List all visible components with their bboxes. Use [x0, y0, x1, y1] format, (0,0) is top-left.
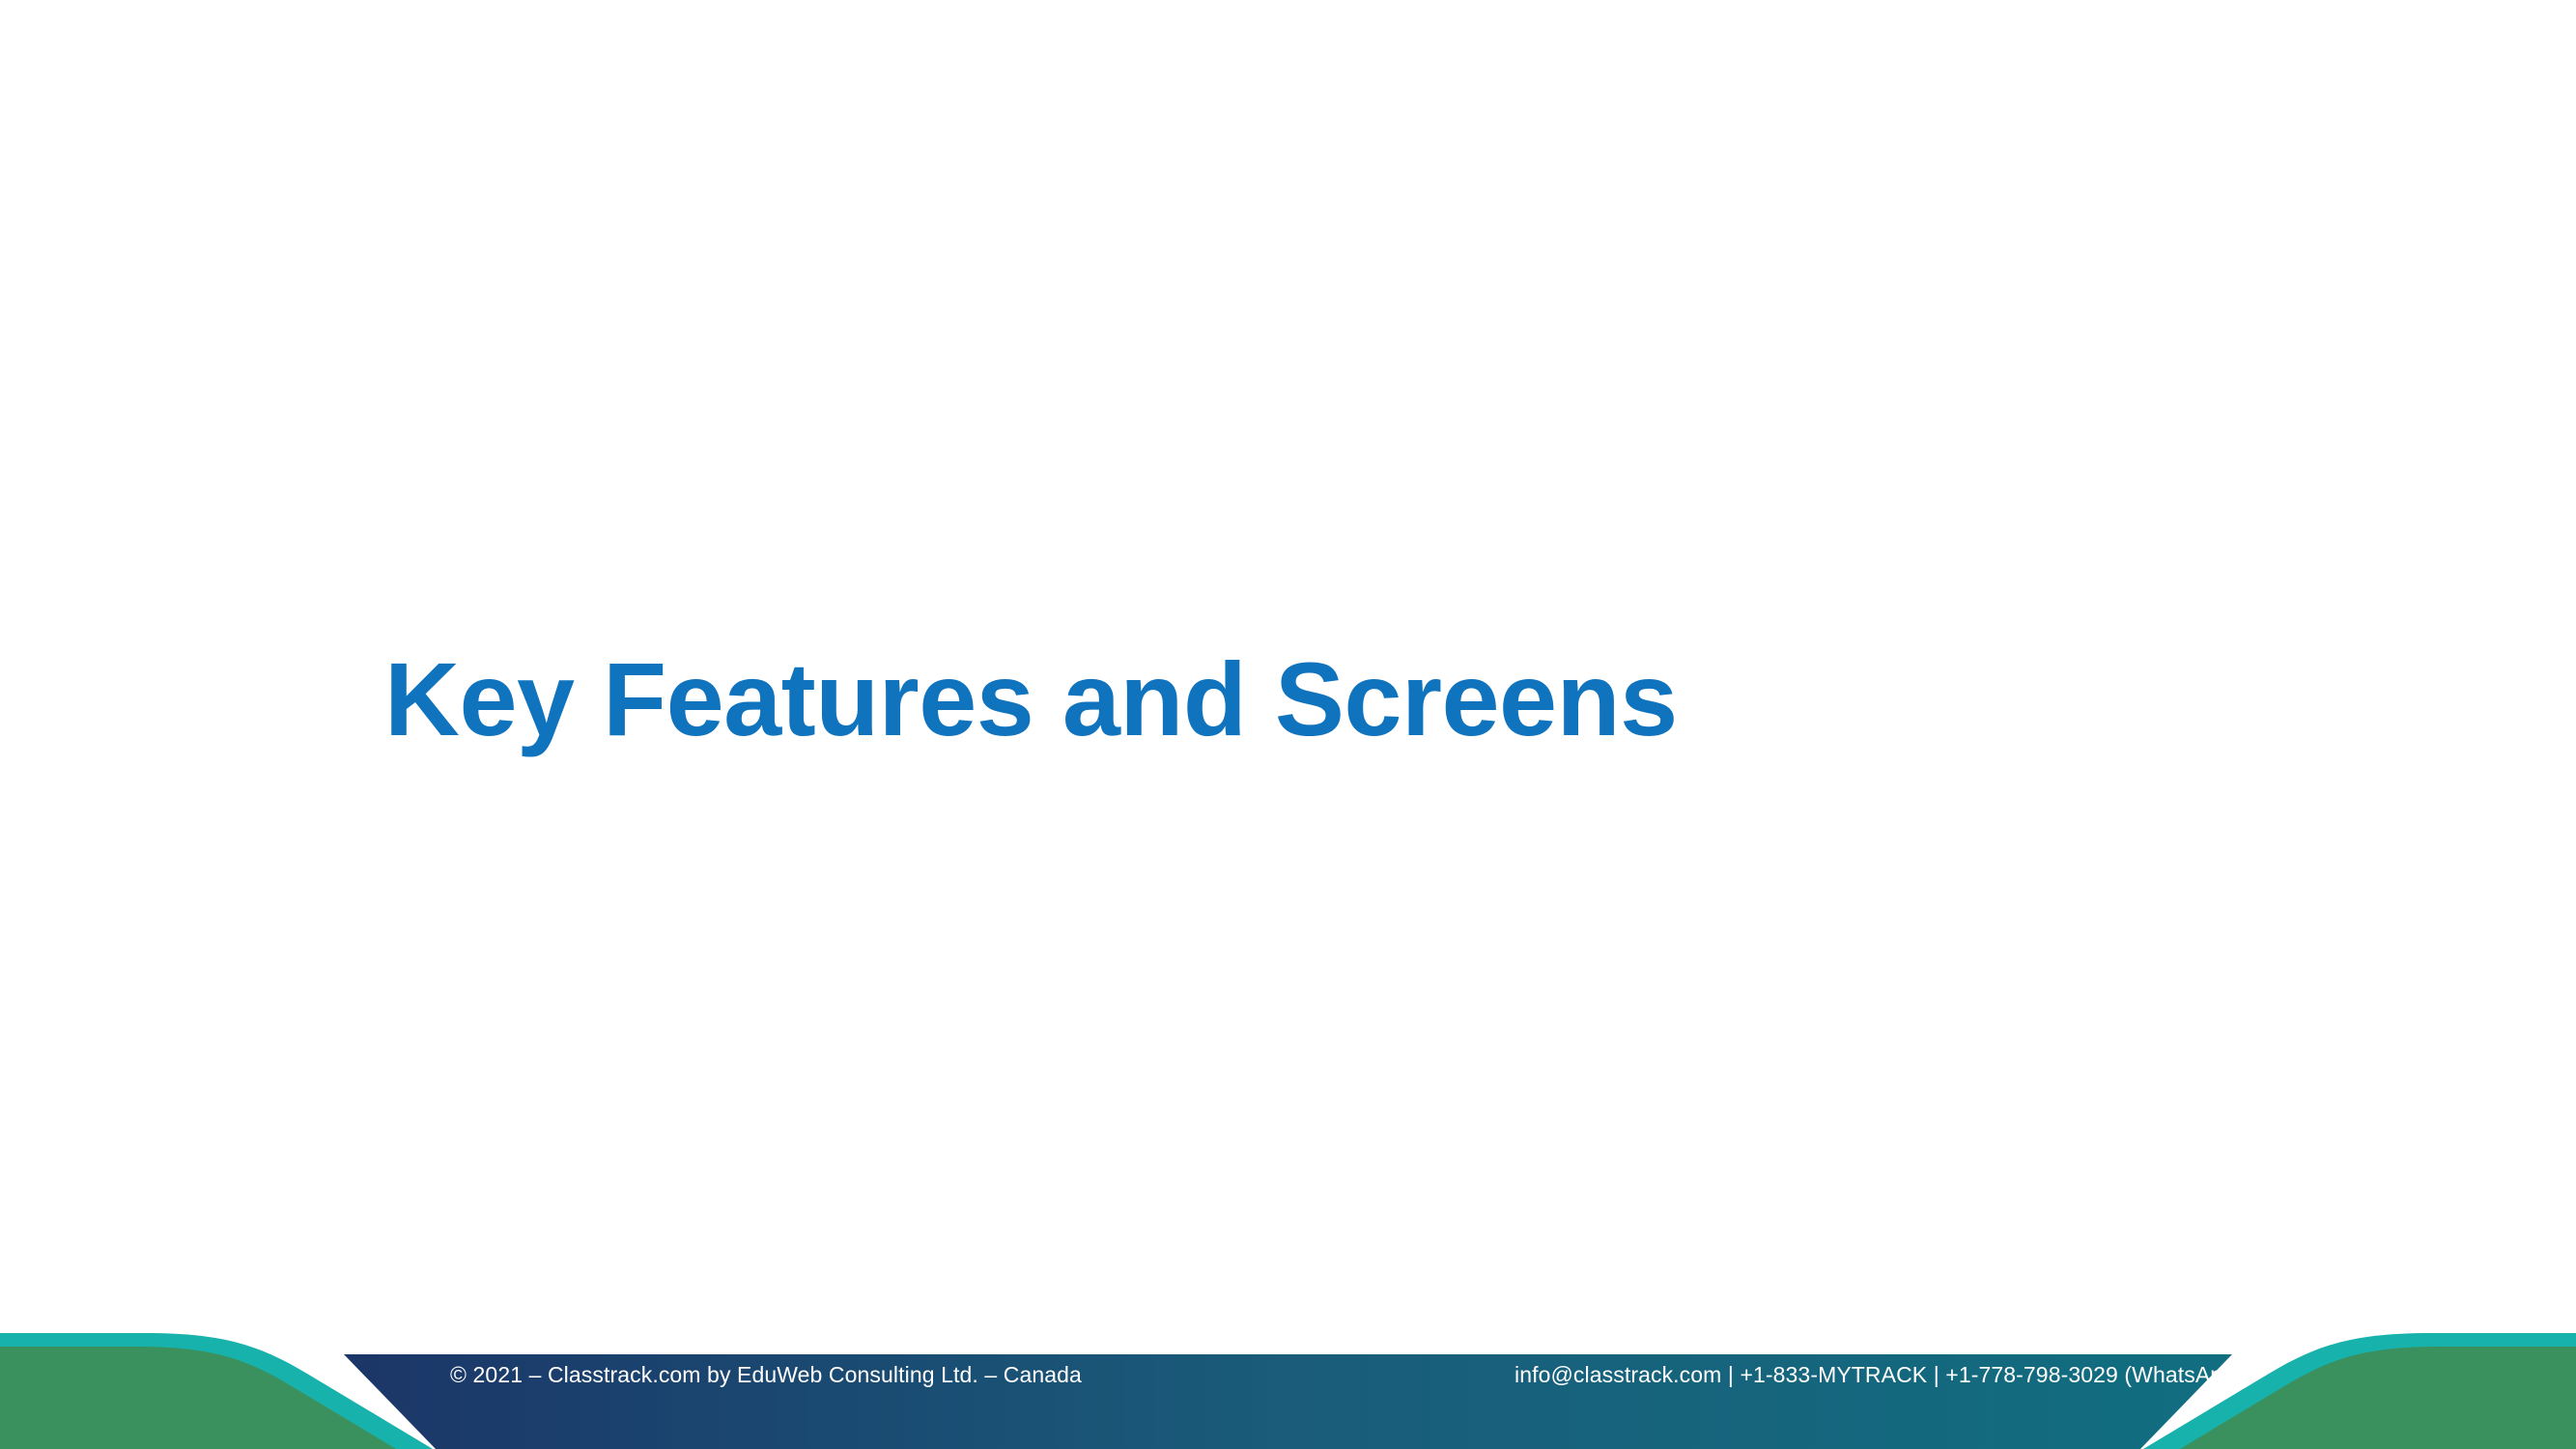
footer-contact: info@classtrack.com | +1-833-MYTRACK | +…	[1514, 1312, 2243, 1449]
page-title: Key Features and Screens	[0, 643, 1678, 756]
footer-copyright: © 2021 – Classtrack.com by EduWeb Consul…	[450, 1312, 1082, 1449]
footer: © 2021 – Classtrack.com by EduWeb Consul…	[0, 1323, 2576, 1449]
title-area: Key Features and Screens	[0, 0, 2576, 1338]
slide: Key Features and Screens © 2021 –	[0, 0, 2576, 1449]
